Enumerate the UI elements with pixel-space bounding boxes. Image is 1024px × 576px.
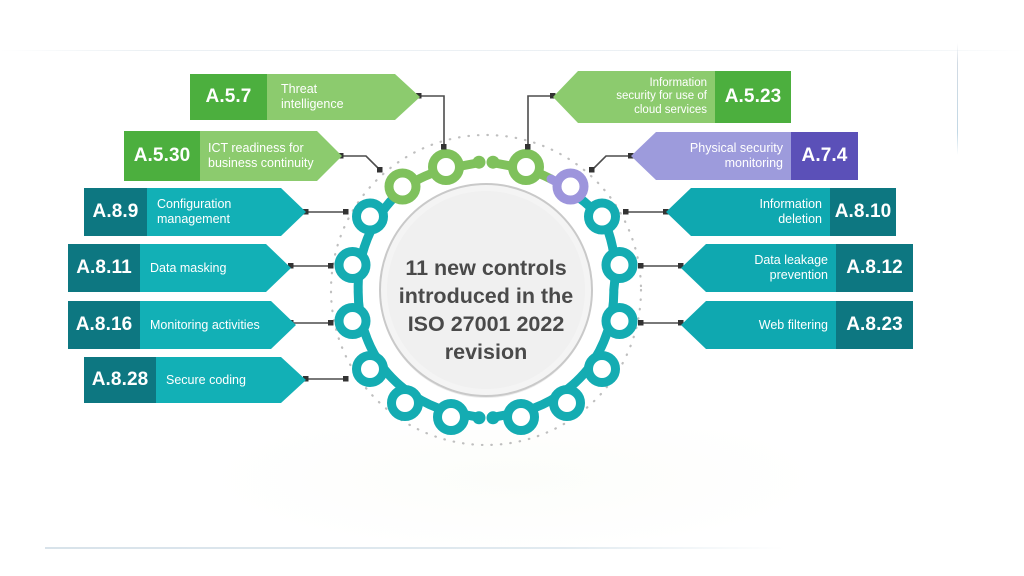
connector-dot [589,167,595,173]
control-name-a816: Monitoring activities [140,301,283,349]
infographic-canvas: 11 new controls introduced in the ISO 27… [0,0,1024,576]
center-line-2: introduced in the [399,284,573,308]
control-code-a810: A.8.10 [830,188,896,236]
connector-dot [441,144,447,150]
connector-dot [328,320,334,326]
control-banner-a816[interactable]: A.8.16 Monitoring activities [68,301,296,349]
ring-node-teal-l3 [339,308,366,335]
control-name-a811: Data masking [140,244,278,292]
control-banner-a57[interactable]: A.5.7 Threat intelligence [190,74,420,120]
connector-dot [623,209,629,215]
control-code-a74: A.7.4 [791,132,858,180]
ring-node-teal-l2 [339,252,366,279]
ring-node-teal-r6 [508,404,535,431]
center-line-3: ISO 27001 2022 [408,312,565,336]
ring-node-teal-l6 [438,404,465,431]
center-line-1: 11 new controls [405,256,566,280]
control-name-a828: Secure coding [156,357,293,403]
ring-node-teal-l4 [357,356,384,383]
control-code-a811: A.8.11 [68,244,140,292]
connector-dot [525,144,531,150]
control-code-a823: A.8.23 [836,301,913,349]
control-code-a828: A.8.28 [84,357,156,403]
ring-node-green-1 [389,173,416,200]
ring-node-teal-r4 [589,356,616,383]
connector-dot [638,263,644,269]
control-code-a816: A.8.16 [68,301,140,349]
connector-dot [638,320,644,326]
control-code-a89: A.8.9 [84,188,147,236]
connector-a74 [592,156,631,170]
ring-node-teal-r5 [554,390,581,417]
control-name-a523: Information security for use of cloud se… [578,71,715,123]
connector-dot [377,167,383,173]
ring-pip-top-right [487,156,500,169]
control-name-a812: Data leakage prevention [706,244,836,292]
control-banner-a811[interactable]: A.8.11 Data masking [68,244,291,292]
ring-node-green-3 [513,154,540,181]
control-code-a812: A.8.12 [836,244,913,292]
ring-node-teal-r2 [606,252,633,279]
ring-node-teal-r3 [606,308,633,335]
control-name-a74: Physical security monitoring [656,132,791,180]
ring-node-teal-l1 [357,203,384,230]
ring-node-purple-1 [557,173,584,200]
control-banner-a89[interactable]: A.8.9 Configuration management [84,188,306,236]
connector-dot [343,209,349,215]
control-name-a57: Threat intelligence [267,74,393,120]
control-name-a823: Web filtering [706,301,836,349]
connector-a530 [341,156,380,170]
control-code-a523: A.5.23 [715,71,791,123]
ring-node-teal-r1 [589,203,616,230]
control-banner-a810[interactable]: Information deletion A.8.10 [666,188,896,236]
connector-a57 [419,96,444,147]
center-line-4: revision [445,340,527,364]
connector-a523 [528,96,553,147]
control-banner-a530[interactable]: A.5.30 ICT readiness for business contin… [124,131,342,181]
ring-node-teal-l5 [392,390,419,417]
ring-pip-bottom-right [487,411,500,424]
ring-node-green-2 [433,154,460,181]
control-banner-a812[interactable]: Data leakage prevention A.8.12 [681,244,913,292]
ring-pip-bottom-left [473,411,486,424]
control-banner-a823[interactable]: Web filtering A.8.23 [681,301,913,349]
ring-pip-top-left [473,156,486,169]
control-name-a810: Information deletion [691,188,830,236]
control-code-a57: A.5.7 [190,74,267,120]
control-code-a530: A.5.30 [124,131,200,181]
connector-dot [328,263,334,269]
connector-dot [343,376,349,382]
control-banner-a74[interactable]: Physical security monitoring A.7.4 [631,132,858,180]
control-banner-a523[interactable]: Information security for use of cloud se… [553,71,791,123]
control-banner-a828[interactable]: A.8.28 Secure coding [84,357,306,403]
control-name-a530: ICT readiness for business continuity [200,131,332,181]
control-name-a89: Configuration management [147,188,292,236]
